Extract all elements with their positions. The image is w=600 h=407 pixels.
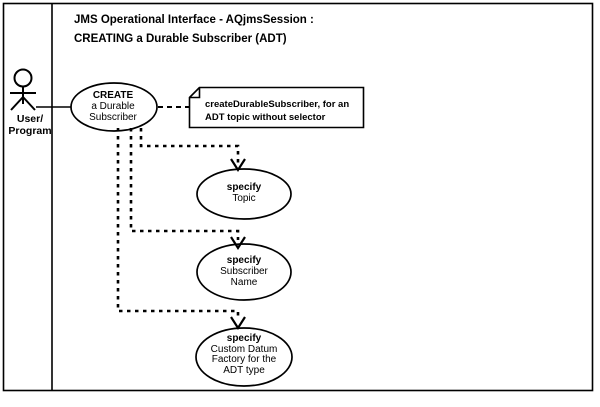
note-text-line2: ADT topic without selector [205, 111, 361, 124]
uc-create-line2: a Durable [72, 102, 154, 113]
actor-label-line2: Program [2, 125, 58, 137]
actor-leg-right-line [23, 97, 35, 110]
actor-figure [10, 70, 36, 111]
note-text: createDurableSubscriber, for an ADT topi… [205, 98, 361, 125]
use-case-create-durable-subscriber-label: CREATE a Durable Subscriber [72, 91, 154, 123]
uc-create-line3: Subscriber [72, 113, 154, 124]
actor-label: User/ Program [2, 113, 58, 138]
use-case-specify-topic-label: specify Topic [198, 183, 290, 205]
actor-leg-left-line [11, 97, 23, 110]
uc-subname-line3: Name [198, 278, 290, 289]
uc-cdf-line1: specify [186, 334, 302, 345]
actor-head-icon [15, 70, 32, 87]
include-topic-path [141, 128, 238, 163]
include-create-to-specify-topic [141, 128, 245, 170]
uc-topic-line2: Topic [198, 194, 290, 205]
use-case-diagram-canvas: JMS Operational Interface - AQjmsSession… [0, 0, 600, 407]
uc-cdf-line4: ADT type [186, 366, 302, 377]
diagram-title: JMS Operational Interface - AQjmsSession… [74, 11, 314, 49]
use-case-specify-custom-datum-factory-label: specify Custom Datum Factory for the ADT… [186, 334, 302, 376]
actor-label-line1: User/ [2, 113, 58, 125]
note-text-line1: createDurableSubscriber, for an [205, 98, 361, 111]
uc-subname-line2: Subscriber [198, 267, 290, 278]
diagram-title-line1: JMS Operational Interface - AQjmsSession… [74, 11, 314, 30]
include-cdf-arrowhead-icon [231, 317, 245, 328]
use-case-specify-subscriber-name-label: specify Subscriber Name [198, 256, 290, 288]
diagram-title-line2: CREATING a Durable Subscriber (ADT) [74, 30, 314, 49]
outer-frame [4, 4, 593, 391]
